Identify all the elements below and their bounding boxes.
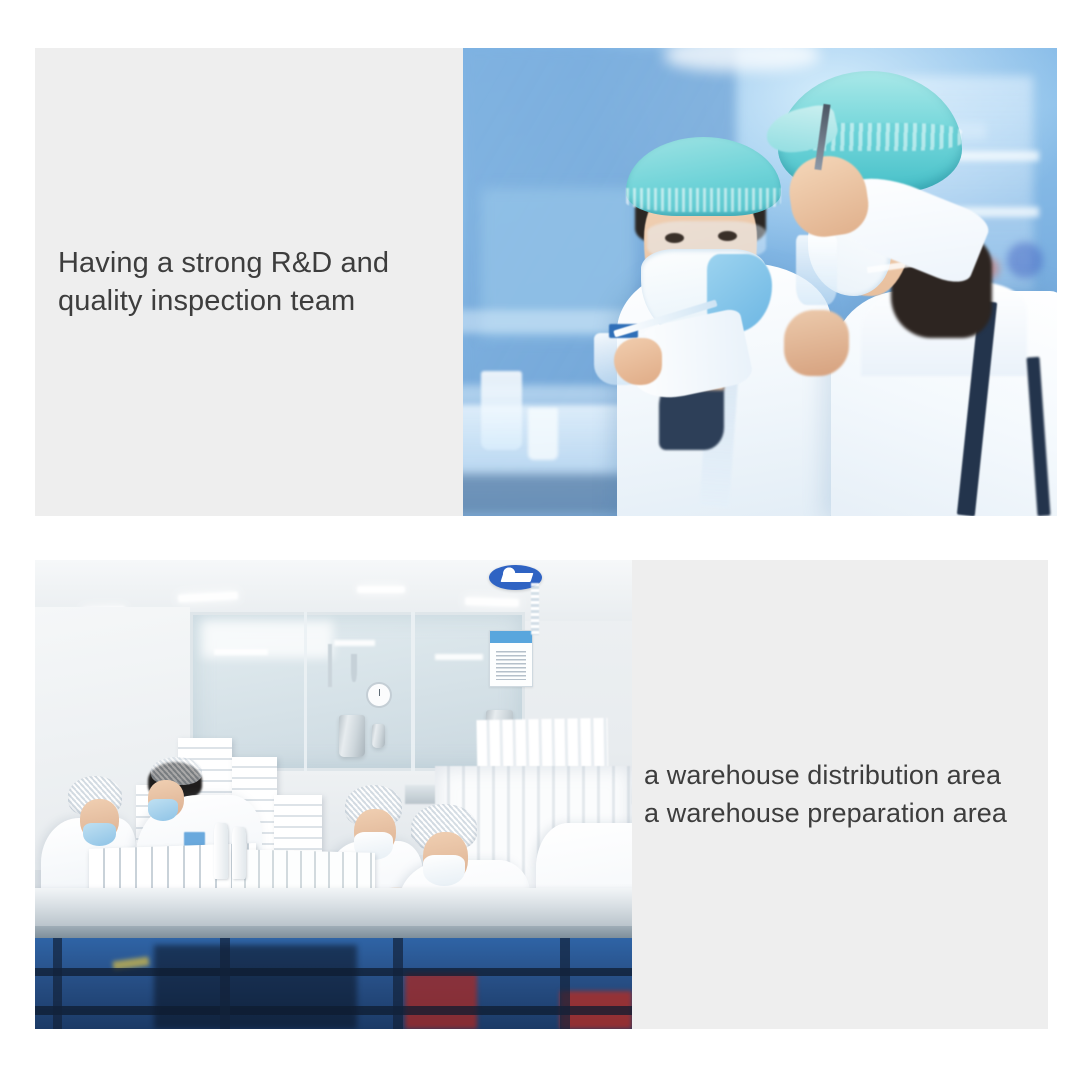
technician-left-eye (665, 233, 684, 243)
page-root: Having a strong R&D and quality inspecti… (0, 0, 1080, 1080)
ceiling-duct (328, 644, 333, 686)
lab-beaker (481, 371, 523, 451)
rd-quality-caption: Having a strong R&D and quality inspecti… (58, 244, 389, 321)
inner-room-light (214, 649, 268, 655)
hanging-strip-curtain (531, 583, 540, 635)
window-mullion (411, 612, 415, 771)
caption-panel-right: a warehouse distribution area a warehous… (632, 560, 1048, 1029)
warehouse-caption: a warehouse distribution area a warehous… (644, 757, 1007, 832)
wall-clock-icon (366, 682, 392, 708)
table-frame-rail (35, 968, 632, 976)
ceiling-duct (351, 654, 357, 682)
table-frame-rail (35, 1006, 632, 1015)
stainless-drum (372, 724, 385, 747)
lab-sample-vial (796, 235, 838, 305)
worker-1-face-mask (83, 823, 116, 846)
table-leg (53, 938, 63, 1029)
lab-ceiling-light (665, 48, 819, 71)
worker-2-face-mask (148, 799, 178, 821)
ceiling-light (465, 597, 519, 606)
technician-left-eye (718, 231, 737, 241)
technician-left-hand (614, 338, 662, 385)
table-leg (220, 938, 230, 1029)
table-leg (560, 938, 570, 1029)
poster-text-lines (496, 651, 526, 679)
worker-4-face-mask (423, 855, 465, 885)
stainless-drum (339, 715, 364, 757)
red-bin (405, 973, 477, 1029)
technician-left-cap-ruffle (626, 188, 780, 211)
lab-inspection-photo (463, 48, 1057, 516)
caption-panel-left: Having a strong R&D and quality inspecti… (35, 48, 463, 516)
warehouse-packing-photo (35, 560, 632, 1029)
section-rd-quality: Having a strong R&D and quality inspecti… (35, 48, 1057, 516)
section-warehouse: a warehouse distribution area a warehous… (35, 560, 1048, 1029)
ceiling-light (357, 586, 405, 594)
table-leg (393, 938, 403, 1029)
stainless-table-top (35, 888, 632, 930)
technician-right-lower-hand (784, 310, 849, 376)
inner-room-light (334, 640, 376, 646)
floor-shadow (154, 945, 357, 1029)
white-bottle (214, 823, 228, 879)
lab-beaker-small (528, 408, 558, 459)
inner-room-light (435, 654, 483, 660)
stainless-table-edge (35, 926, 632, 938)
window-mullion (304, 612, 308, 771)
white-bottle (232, 827, 246, 879)
